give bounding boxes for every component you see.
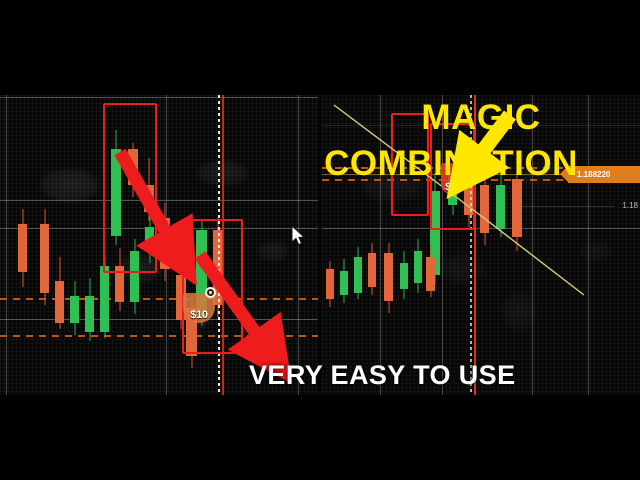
- price-axis-tick: 1.18: [622, 201, 638, 210]
- candle: [480, 95, 489, 395]
- candle: [85, 95, 94, 395]
- axis-tick-line: [522, 206, 614, 207]
- left-chart-panel[interactable]: $10: [0, 95, 318, 395]
- grid-line-vertical: [6, 95, 7, 395]
- candle: [160, 95, 170, 395]
- video-frame: $10: [0, 0, 640, 480]
- candle: [18, 95, 27, 395]
- candle: [55, 95, 64, 395]
- right-chart-panel[interactable]: $10 1.188220 1.18: [322, 95, 640, 395]
- sub-caption: VERY EASY TO USE: [249, 360, 516, 391]
- annotation-box-setup[interactable]: [103, 103, 157, 273]
- candle: [512, 95, 522, 395]
- candle: [40, 95, 49, 395]
- grid-line-vertical: [380, 95, 381, 395]
- candle: [326, 95, 334, 395]
- grid-line-vertical: [588, 95, 589, 395]
- video-content-band: $10: [0, 95, 640, 395]
- candle: [368, 95, 376, 395]
- candle: [354, 95, 362, 395]
- headline-line-2: COMBINATION: [262, 143, 640, 184]
- entry-point-marker: [205, 287, 216, 298]
- candle: [496, 95, 505, 395]
- candle: [340, 95, 348, 395]
- trade-amount-label: $10: [190, 309, 207, 321]
- grid-line-vertical: [532, 95, 533, 395]
- headline-line-1: MAGIC: [322, 97, 640, 138]
- grid-line-vertical: [298, 95, 299, 395]
- candle: [70, 95, 79, 395]
